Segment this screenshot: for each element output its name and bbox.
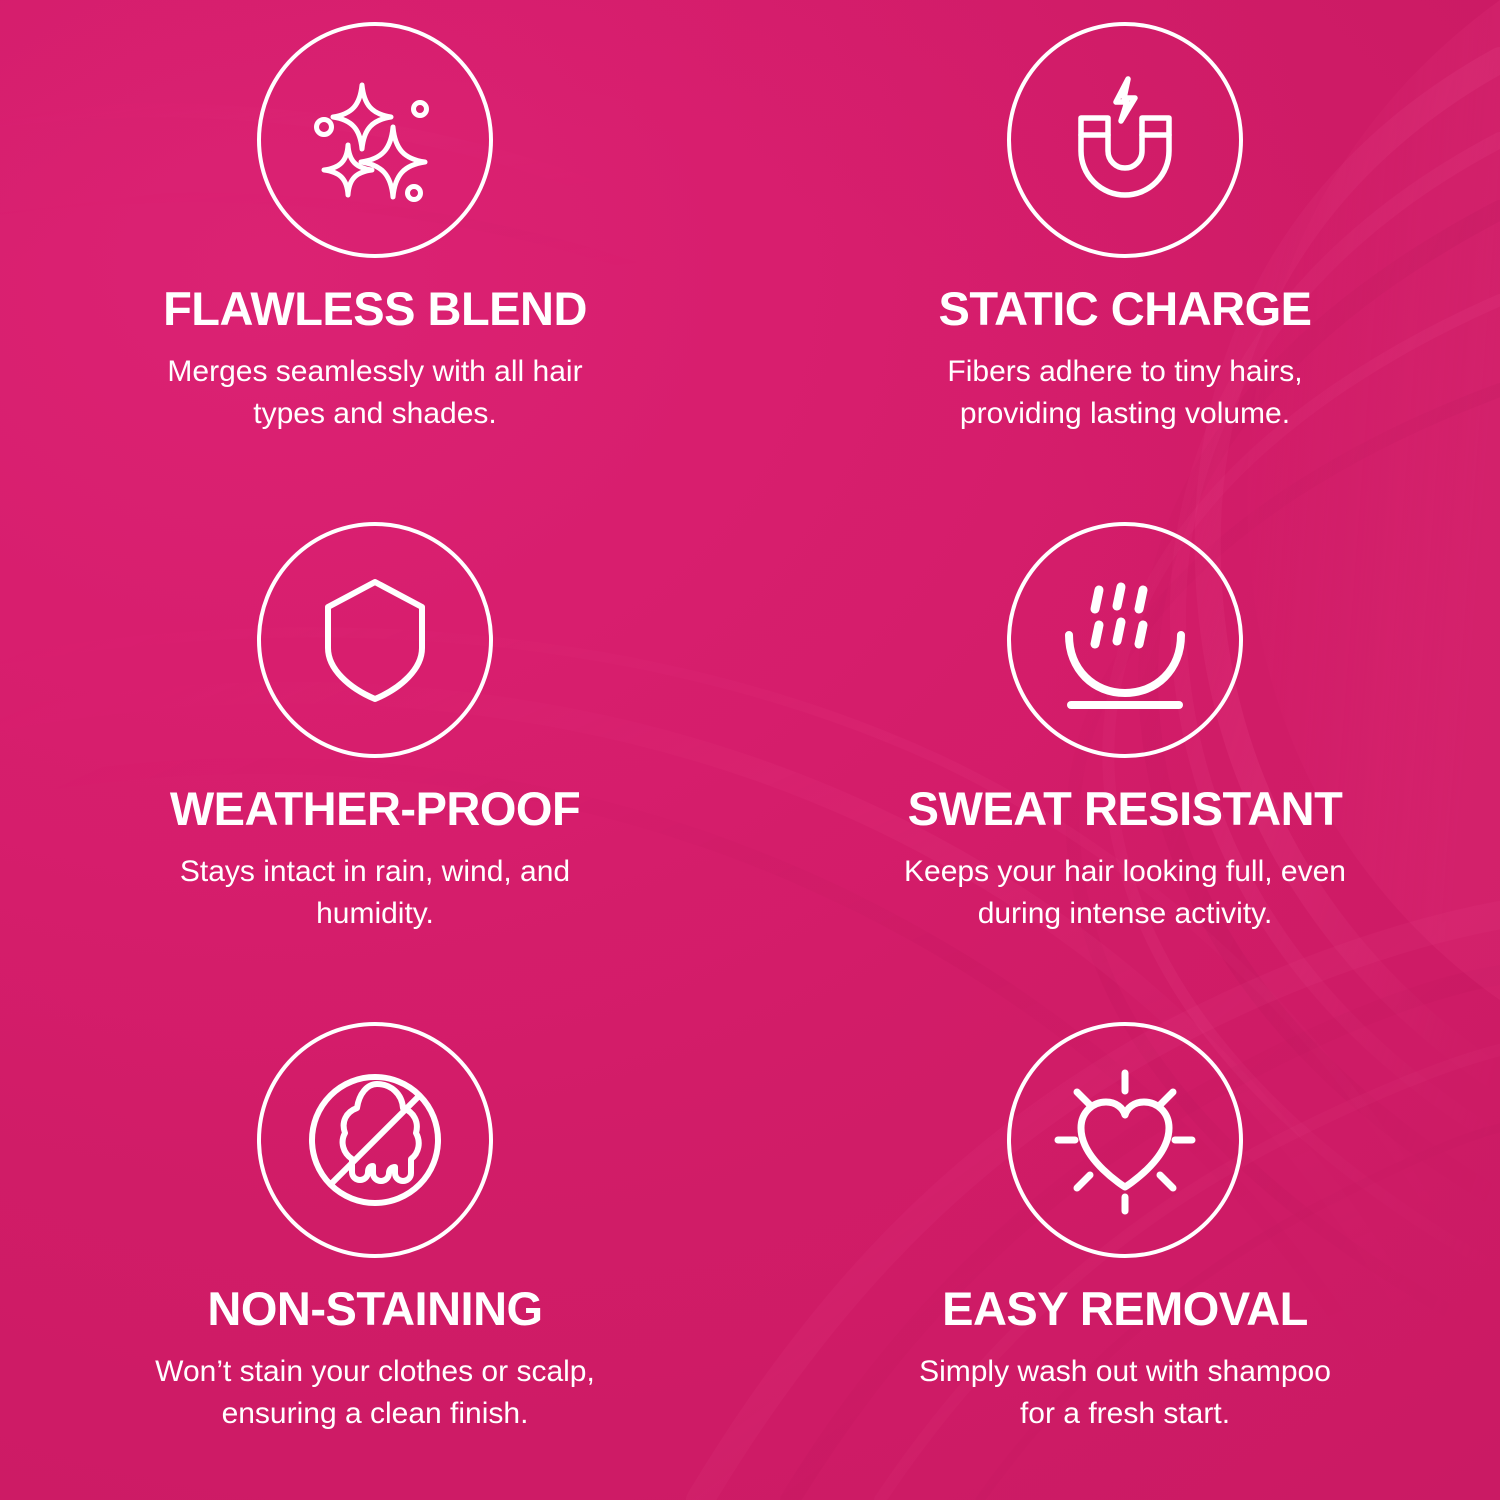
feature-description-line2: providing lasting volume. bbox=[947, 393, 1302, 434]
feature-description-line2: ensuring a clean finish. bbox=[155, 1393, 595, 1434]
feature-description-line2: types and shades. bbox=[167, 393, 582, 434]
feature-card-non-staining: NON-STAINING Won’t stain your clothes or… bbox=[0, 1000, 750, 1500]
shield-icon-circle bbox=[257, 522, 493, 758]
feature-card-static-charge: STATIC CHARGE Fibers adhere to tiny hair… bbox=[750, 0, 1500, 500]
feature-description: Simply wash out with shampoo for a fresh… bbox=[919, 1351, 1331, 1434]
feature-description: Keeps your hair looking full, even durin… bbox=[904, 851, 1346, 934]
sparkles-icon-circle bbox=[257, 22, 493, 258]
feature-card-weather-proof: WEATHER-PROOF Stays intact in rain, wind… bbox=[0, 500, 750, 1000]
feature-description-line1: Won’t stain your clothes or scalp, bbox=[155, 1355, 595, 1388]
magnet-static-icon-circle bbox=[1007, 22, 1243, 258]
feature-description: Fibers adhere to tiny hairs, providing l… bbox=[947, 351, 1302, 434]
feature-description-line2: during intense activity. bbox=[904, 893, 1346, 934]
feature-description: Stays intact in rain, wind, and humidity… bbox=[180, 851, 570, 934]
feature-title: SWEAT RESISTANT bbox=[908, 784, 1343, 833]
feature-description-line1: Merges seamlessly with all hair bbox=[167, 355, 582, 388]
feature-description-line1: Simply wash out with shampoo bbox=[919, 1355, 1331, 1388]
feature-title: STATIC CHARGE bbox=[939, 284, 1312, 333]
no-stain-icon bbox=[295, 1060, 455, 1220]
feature-title: NON-STAINING bbox=[207, 1284, 542, 1333]
feature-description: Won’t stain your clothes or scalp, ensur… bbox=[155, 1351, 595, 1434]
shining-heart-icon bbox=[1050, 1065, 1200, 1215]
features-grid: FLAWLESS BLEND Merges seamlessly with al… bbox=[0, 0, 1500, 1500]
feature-title: EASY REMOVAL bbox=[942, 1284, 1308, 1333]
feature-description: Merges seamlessly with all hair types an… bbox=[167, 351, 582, 434]
feature-description-line1: Stays intact in rain, wind, and bbox=[180, 855, 570, 888]
feature-description-line1: Fibers adhere to tiny hairs, bbox=[947, 355, 1302, 388]
feature-title: FLAWLESS BLEND bbox=[163, 284, 587, 333]
feature-title: WEATHER-PROOF bbox=[170, 784, 580, 833]
feature-card-easy-removal: EASY REMOVAL Simply wash out with shampo… bbox=[750, 1000, 1500, 1500]
feature-description-line1: Keeps your hair looking full, even bbox=[904, 855, 1346, 888]
feature-description-line2: for a fresh start. bbox=[919, 1393, 1331, 1434]
feature-card-flawless-blend: FLAWLESS BLEND Merges seamlessly with al… bbox=[0, 0, 750, 500]
no-stain-icon-circle bbox=[257, 1022, 493, 1258]
magnet-static-icon bbox=[1050, 65, 1200, 215]
water-repellent-icon bbox=[1050, 565, 1200, 715]
feature-card-sweat-resistant: SWEAT RESISTANT Keeps your hair looking … bbox=[750, 500, 1500, 1000]
shining-heart-icon-circle bbox=[1007, 1022, 1243, 1258]
water-repellent-icon-circle bbox=[1007, 522, 1243, 758]
feature-description-line2: humidity. bbox=[180, 893, 570, 934]
sparkles-icon bbox=[300, 65, 450, 215]
shield-icon bbox=[300, 565, 450, 715]
